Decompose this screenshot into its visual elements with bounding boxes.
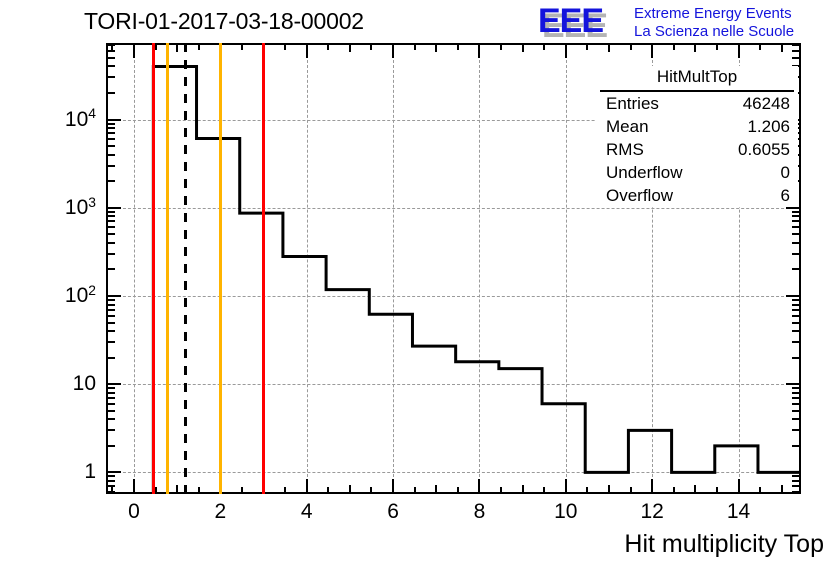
x-axis-tick-label: 10 xyxy=(554,500,577,524)
eee-logo-line2: La Scienza nelle Scuole xyxy=(634,23,794,40)
x-axis-tick-label: 14 xyxy=(727,500,750,524)
stats-row: Entries46248 xyxy=(596,92,798,115)
x-axis-tick-label: 6 xyxy=(387,500,399,524)
eee-logo: EEE Extreme Energy Events La Scienza nel… xyxy=(538,2,834,42)
stats-row-label: RMS xyxy=(606,139,644,160)
stats-row: RMS0.6055 xyxy=(596,138,798,161)
eee-logo-mark: EEE xyxy=(538,4,603,38)
marker-line-red-low xyxy=(152,43,155,494)
stats-row-label: Mean xyxy=(606,116,649,137)
marker-line-mean-line xyxy=(184,43,187,494)
y-axis-tick-label: 103 xyxy=(0,196,96,220)
marker-line-red-high xyxy=(262,43,265,494)
stats-row-value: 0.6055 xyxy=(738,139,790,160)
stats-row: Mean1.206 xyxy=(596,115,798,138)
x-axis-tick-label: 8 xyxy=(474,500,486,524)
stats-row-label: Entries xyxy=(606,93,659,114)
stats-row: Overflow6 xyxy=(596,184,798,207)
stats-row-value: 1.206 xyxy=(747,116,790,137)
stats-row-label: Overflow xyxy=(606,185,673,206)
x-axis-title: Hit multiplicity Top xyxy=(624,530,824,559)
y-axis-tick-label: 1 xyxy=(0,460,96,484)
y-axis-tick-label: 10 xyxy=(0,372,96,396)
y-axis-tick-label: 102 xyxy=(0,284,96,308)
x-axis-tick-label: 0 xyxy=(128,500,140,524)
x-axis-tick-label: 4 xyxy=(301,500,313,524)
x-axis-tick-label: 2 xyxy=(214,500,226,524)
stats-box: HitMultTop Entries46248Mean1.206RMS0.605… xyxy=(596,66,798,207)
stats-row: Underflow0 xyxy=(596,161,798,184)
marker-line-orange-low xyxy=(166,43,169,494)
eee-logo-line1: Extreme Energy Events xyxy=(634,5,792,22)
stats-row-value: 0 xyxy=(781,162,790,183)
x-axis-tick-label: 12 xyxy=(640,500,663,524)
stats-title: HitMultTop xyxy=(600,66,794,92)
marker-line-orange-high xyxy=(219,43,222,494)
y-axis-tick-label: 104 xyxy=(0,108,96,132)
stats-row-value: 6 xyxy=(781,185,790,206)
root-canvas: TORI-01-2017-03-18-00002 EEE Extreme Ene… xyxy=(0,0,836,572)
stats-row-value: 46248 xyxy=(743,93,790,114)
stats-rows: Entries46248Mean1.206RMS0.6055Underflow0… xyxy=(596,92,798,207)
stats-row-label: Underflow xyxy=(606,162,683,183)
page-title: TORI-01-2017-03-18-00002 xyxy=(84,8,364,35)
